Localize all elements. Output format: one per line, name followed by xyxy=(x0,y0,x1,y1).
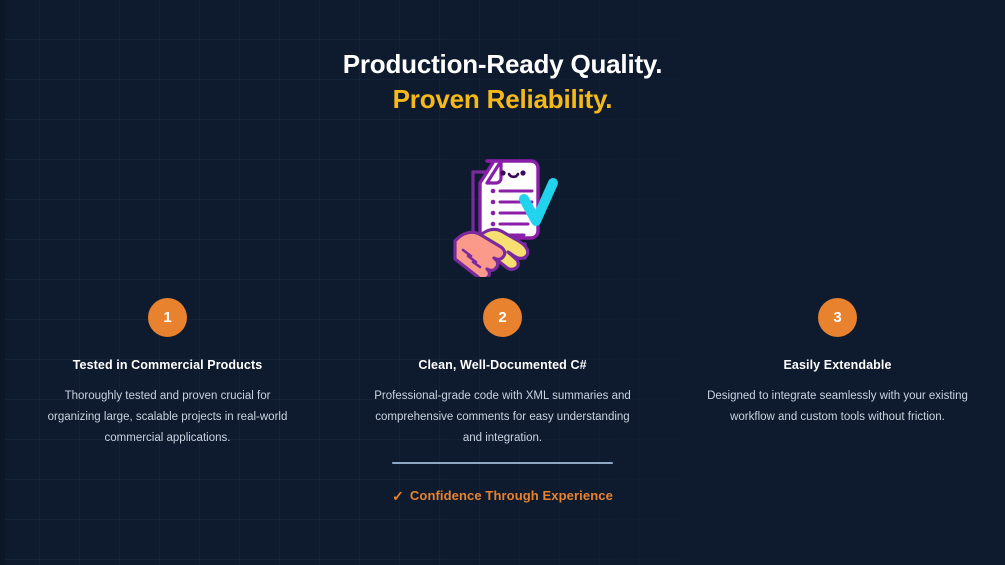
handshake-checklist-icon xyxy=(425,137,585,277)
confidence-note-label: Confidence Through Experience xyxy=(410,488,613,503)
feature-description-3: Designed to integrate seamlessly with yo… xyxy=(707,386,969,428)
page-title: Production-Ready Quality. xyxy=(0,47,1005,81)
heading-block: Production-Ready Quality. Proven Reliabi… xyxy=(0,47,1005,116)
confidence-note: ✓ Confidence Through Experience xyxy=(392,488,613,503)
feature-columns: 1 Tested in Commercial Products Thorough… xyxy=(0,298,1005,449)
step-badge-2: 2 xyxy=(483,298,522,337)
feature-column-2: 2 Clean, Well-Documented C# Professional… xyxy=(335,298,670,449)
feature-column-1: 1 Tested in Commercial Products Thorough… xyxy=(0,298,335,449)
feature-description-2: Professional-grade code with XML summari… xyxy=(372,386,634,449)
divider xyxy=(392,462,613,464)
step-badge-1: 1 xyxy=(148,298,187,337)
step-badge-3: 3 xyxy=(818,298,857,337)
footer-block: ✓ Confidence Through Experience xyxy=(0,462,1005,503)
feature-title-2: Clean, Well-Documented C# xyxy=(418,358,586,372)
feature-description-1: Thoroughly tested and proven crucial for… xyxy=(37,386,299,449)
feature-column-3: 3 Easily Extendable Designed to integrat… xyxy=(670,298,1005,428)
check-icon: ✓ xyxy=(392,489,404,503)
feature-title-1: Tested in Commercial Products xyxy=(73,358,263,372)
slide-root: Production-Ready Quality. Proven Reliabi… xyxy=(0,0,1005,565)
feature-title-3: Easily Extendable xyxy=(784,358,892,372)
page-subtitle: Proven Reliability. xyxy=(0,82,1005,116)
